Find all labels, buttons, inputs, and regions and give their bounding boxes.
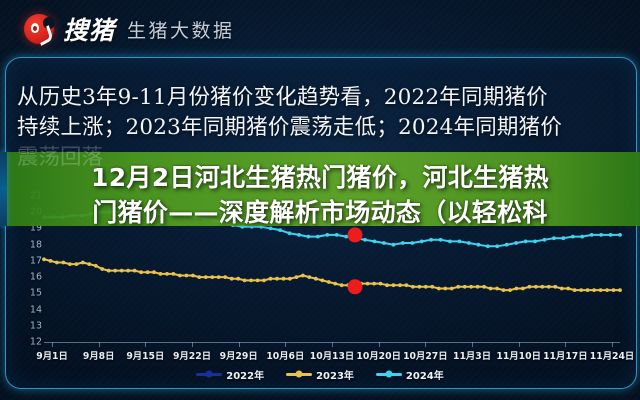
x-axis-tick-label: 9月1日 [36, 348, 68, 362]
x-axis-tick-label: 11月17日 [543, 348, 587, 362]
chart-data-point [372, 282, 376, 286]
chart-data-point [159, 272, 163, 276]
chart-data-point [307, 275, 311, 279]
chart-data-point [609, 233, 613, 237]
chart-data-point [236, 277, 240, 281]
y-axis-tick: 17 [30, 255, 42, 266]
chart-data-point [120, 269, 124, 273]
chart-data-point [288, 231, 292, 235]
legend-item-2024年[interactable]: 2024年 [376, 367, 444, 382]
chart-data-point [81, 261, 85, 265]
legend-swatch-icon [286, 373, 312, 376]
chart-data-point [502, 288, 506, 292]
chart-data-point [146, 270, 150, 274]
chart-data-point [533, 240, 537, 244]
chart-data-point [320, 279, 324, 283]
chart-data-point [586, 288, 590, 292]
chart-x-axis: 9月1日9月8日9月15日9月22日9月29日10月6日10月13日10月20日… [44, 342, 620, 364]
chart-data-point [379, 282, 383, 286]
chart-data-point [152, 270, 156, 274]
chart-data-point [191, 274, 195, 278]
chart-data-point [49, 259, 53, 263]
chart-data-point [430, 285, 434, 289]
chart-data-point [524, 240, 528, 244]
legend-label: 2022年 [226, 367, 264, 382]
chart-data-point [561, 236, 565, 240]
chart-data-point [398, 283, 402, 287]
chart-data-point [429, 238, 433, 242]
overlay-title-line-2: 门猪价——深度解析市场动态（以轻松科 [12, 195, 628, 230]
chart-data-point [467, 241, 471, 245]
chart-data-point [424, 285, 428, 289]
chart-data-point [75, 262, 79, 266]
chart-data-point [385, 283, 389, 287]
x-axis-tick-mark [192, 342, 193, 347]
x-axis-tick-label: 10月20日 [356, 348, 400, 362]
chart-data-point [401, 241, 405, 245]
chart-data-point [521, 287, 525, 291]
x-axis-tick-mark [332, 342, 333, 347]
chart-data-point [295, 275, 299, 279]
chart-data-point [515, 287, 519, 291]
legend-swatch-icon [196, 373, 222, 376]
legend-swatch-icon [376, 373, 402, 376]
chart-data-point [476, 285, 480, 289]
chart-data-point [528, 285, 532, 289]
chart-data-point [373, 240, 377, 244]
y-axis-tick: 12 [30, 337, 42, 348]
x-axis-tick-mark [99, 342, 100, 347]
chart-data-point [301, 274, 305, 278]
chart-data-point [486, 244, 490, 248]
chart-data-point [363, 238, 367, 242]
chart-data-point [618, 288, 622, 292]
chart-data-point [456, 285, 460, 289]
chart-data-point [477, 243, 481, 247]
chart-data-point [418, 285, 422, 289]
x-axis-tick-label: 11月24日 [590, 348, 634, 362]
chart-data-point [340, 283, 344, 287]
chart-data-point [197, 275, 201, 279]
legend-item-2023年[interactable]: 2023年 [286, 367, 354, 382]
x-axis-tick-label: 10月6日 [266, 348, 304, 362]
chart-data-point [249, 279, 253, 283]
chart-data-point [327, 280, 331, 284]
chart-data-point [94, 264, 98, 268]
chart-data-point [450, 287, 454, 291]
chart-data-point [469, 285, 473, 289]
chart-data-point [256, 279, 260, 283]
x-axis-tick-mark [472, 342, 473, 347]
chart-data-point [100, 267, 104, 271]
x-axis-tick-mark [425, 342, 426, 347]
x-axis-tick-mark [239, 342, 240, 347]
chart-data-point [482, 285, 486, 289]
chart-data-point [495, 244, 499, 248]
chart-data-point [547, 285, 551, 289]
chart-data-point [275, 277, 279, 281]
x-axis-tick-label: 10月13日 [310, 348, 354, 362]
overlay-title-line-1: 12月2日河北生猪热门猪价，河北生猪热 [12, 160, 628, 195]
chart-data-point [579, 288, 583, 292]
chart-data-point [223, 275, 227, 279]
chart-data-point [566, 287, 570, 291]
chart-data-point [107, 269, 111, 273]
brand-name: 搜猪 [63, 11, 115, 47]
x-axis-tick-mark [565, 342, 566, 347]
chart-data-point [599, 288, 603, 292]
y-axis-tick: 15 [30, 288, 42, 299]
legend-item-2022年[interactable]: 2022年 [196, 367, 264, 382]
chart-data-point [612, 288, 616, 292]
chart-data-point [382, 241, 386, 245]
chart-data-point [495, 287, 499, 291]
chart-data-point [185, 274, 189, 278]
headline-line-1: 从历史3年9-11月份猪价变化趋势看，2022年同期猪价 [17, 83, 627, 113]
chart-data-point [204, 275, 208, 279]
chart-data-point [599, 233, 603, 237]
brand-logo[interactable]: 搜猪 生猪大数据 [24, 11, 235, 47]
chart-data-point [68, 262, 72, 266]
chart-data-point [543, 238, 547, 242]
legend-label: 2024年 [406, 367, 444, 382]
chart-data-point [508, 288, 512, 292]
chart-data-point [325, 233, 329, 237]
chart-data-point [333, 282, 337, 286]
chart-data-point [489, 287, 493, 291]
chart-data-point [262, 279, 266, 283]
chart-data-point [217, 275, 221, 279]
chart-data-point [314, 277, 318, 281]
x-axis-tick-label: 11月10日 [496, 348, 540, 362]
x-axis-tick-mark [52, 342, 53, 347]
chart-legend[interactable]: 2022年2023年2024年 [16, 366, 624, 382]
chart-data-point [307, 235, 311, 239]
chart-data-point [210, 275, 214, 279]
sou-zhu-pig-logo-icon [24, 14, 54, 44]
x-axis-tick-mark [145, 342, 146, 347]
chart-data-point [571, 235, 575, 239]
chart-data-point [243, 279, 247, 283]
x-axis-tick-label: 9月8日 [83, 348, 115, 362]
chart-data-point [411, 285, 415, 289]
x-axis-tick-mark [519, 342, 520, 347]
x-axis-tick-mark [612, 342, 613, 347]
chart-data-point [553, 285, 557, 289]
legend-label: 2023年 [316, 367, 354, 382]
chart-data-point [437, 287, 441, 291]
chart-data-point [392, 243, 396, 247]
x-axis-tick-label: 9月22日 [173, 348, 211, 362]
chart-data-point [448, 240, 452, 244]
chart-data-point [439, 238, 443, 242]
chart-data-point [42, 257, 46, 261]
chart-data-point [505, 243, 509, 247]
x-axis-tick-label: 9月15日 [126, 348, 164, 362]
chart-data-point [126, 269, 130, 273]
chart-data-point [590, 233, 594, 237]
chart-data-point [458, 240, 462, 244]
x-axis-tick-label: 11月3日 [453, 348, 491, 362]
chart-data-point [87, 262, 91, 266]
chart-data-point [139, 270, 143, 274]
chart-data-point [514, 241, 518, 245]
chart-data-point [288, 277, 292, 281]
overlay-article-title: 12月2日河北生猪热门猪价，河北生猪热 门猪价——深度解析市场动态（以轻松科 [0, 160, 640, 230]
chart-data-point [592, 288, 596, 292]
chart-data-point [282, 277, 286, 281]
chart-data-point [573, 288, 577, 292]
y-axis-tick: 16 [30, 272, 42, 283]
chart-data-point [618, 233, 622, 237]
chart-data-point [366, 282, 370, 286]
headline-line-2: 持续上涨；2023年同期猪价震荡走低；2024年同期猪价 [17, 113, 627, 143]
y-axis-tick: 18 [30, 239, 42, 250]
chart-data-point [230, 277, 234, 281]
chart-data-point [316, 235, 320, 239]
chart-data-point [178, 274, 182, 278]
chart-data-point [405, 283, 409, 287]
chart-data-point [534, 285, 538, 289]
x-axis-tick-mark [285, 342, 286, 347]
chart-data-point [113, 269, 117, 273]
chart-data-point [410, 241, 414, 245]
chart-data-point [443, 287, 447, 291]
chart-data-point [297, 233, 301, 237]
chart-data-point [392, 283, 396, 287]
x-axis-tick-mark [379, 342, 380, 347]
chart-data-point [560, 287, 564, 291]
x-axis-tick-label: 10月27日 [403, 348, 447, 362]
chart-data-point [580, 235, 584, 239]
chart-line-2023年 [44, 259, 620, 290]
chart-data-point [172, 272, 176, 276]
chart-data-point [463, 285, 467, 289]
brand-subtitle: 生猪大数据 [127, 16, 235, 43]
chart-data-point [605, 288, 609, 292]
chart-data-point [55, 261, 59, 265]
x-axis-tick-label: 9月29日 [220, 348, 258, 362]
chart-data-point [165, 272, 169, 276]
chart-data-point [269, 277, 273, 281]
chart-data-point [62, 261, 66, 265]
chart-highlight-marker[interactable] [348, 279, 363, 294]
chart-data-point [335, 233, 339, 237]
chart-data-point [420, 240, 424, 244]
chart-data-point [133, 269, 137, 273]
screenshot-root: 搜猪 生猪大数据 从历史3年9-11月份猪价变化趋势看，2022年同期猪价 持续… [0, 0, 640, 400]
headline-paragraph: 从历史3年9-11月份猪价变化趋势看，2022年同期猪价 持续上涨；2023年同… [17, 83, 627, 143]
y-axis-tick: 13 [30, 320, 42, 331]
y-axis-tick: 14 [30, 304, 42, 315]
chart-data-point [552, 236, 556, 240]
chart-data-point [540, 285, 544, 289]
